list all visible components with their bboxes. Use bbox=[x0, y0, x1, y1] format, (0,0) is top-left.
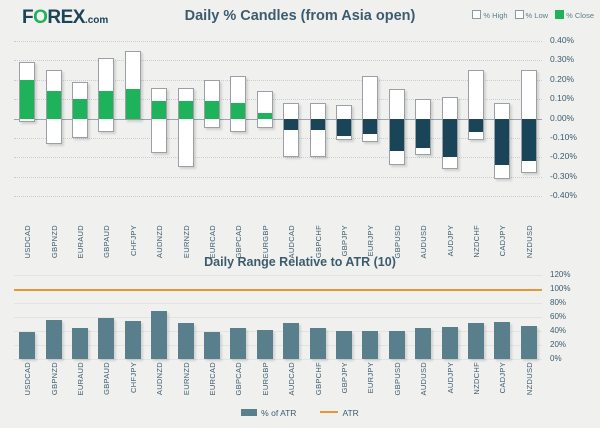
y-axis-tick-label: 0.10% bbox=[550, 93, 574, 103]
legend-swatch-icon bbox=[555, 10, 564, 19]
atr-bar-cadjpy bbox=[494, 322, 510, 359]
candle-gbpaud bbox=[98, 41, 114, 196]
candle-audnzd bbox=[151, 41, 167, 196]
legend-item-low: % Low bbox=[515, 10, 549, 20]
atr-bar-gbpchf bbox=[310, 328, 326, 360]
y-axis-tick-label: -0.20% bbox=[550, 151, 577, 161]
legend-item-close: % Close bbox=[555, 10, 594, 20]
x-axis-label-audusd: AUDUSD bbox=[419, 225, 428, 258]
bottom-plot-area bbox=[14, 275, 542, 359]
candle-eurgbp bbox=[257, 41, 273, 196]
chart-header: FOREX.com Daily % Candles (from Asia ope… bbox=[0, 0, 600, 30]
top-plot-area bbox=[14, 41, 542, 196]
gridline bbox=[14, 41, 542, 42]
candle-close-body bbox=[415, 119, 431, 148]
bottom-chart-title: Daily Range Relative to ATR (10) bbox=[0, 255, 600, 269]
candle-close-body bbox=[442, 119, 458, 158]
x-axis-label-audusd: AUDUSD bbox=[419, 362, 428, 395]
candle-range-box bbox=[178, 88, 194, 167]
candle-chfjpy bbox=[125, 41, 141, 196]
candle-usdcad bbox=[19, 41, 35, 196]
x-axis-label-audcad: AUDCAD bbox=[287, 362, 296, 395]
top-chart-legend: % High% Low% Close bbox=[465, 10, 594, 20]
candle-gbpnzd bbox=[46, 41, 62, 196]
x-axis-label-eurgbp: EURGBP bbox=[261, 362, 270, 395]
atr-bar-audcad bbox=[283, 323, 299, 359]
gridline bbox=[14, 80, 542, 81]
x-axis-label-eurjpy: EURJPY bbox=[366, 362, 375, 393]
candle-range-box bbox=[310, 103, 326, 157]
x-axis-label-gbpnzd: GBPNZD bbox=[50, 362, 59, 395]
atr-bar-gbpcad bbox=[230, 328, 246, 359]
gridline bbox=[14, 60, 542, 61]
legend-label: % High bbox=[483, 11, 507, 20]
candle-audjpy bbox=[442, 41, 458, 196]
zero-line bbox=[14, 119, 542, 120]
y-axis-tick-label: 0.00% bbox=[550, 113, 574, 123]
candle-close-body bbox=[178, 101, 194, 118]
candle-nzdusd bbox=[521, 41, 537, 196]
gridline bbox=[14, 196, 542, 197]
legend-label: % of ATR bbox=[261, 408, 296, 418]
atr-bar-gbpaud bbox=[98, 318, 114, 359]
x-axis-label-gbpusd: GBPUSD bbox=[393, 362, 402, 395]
atr-bar-nzdusd bbox=[521, 326, 537, 359]
legend-item-high: % High bbox=[472, 10, 507, 20]
x-axis-label-nzdusd: NZDUSD bbox=[525, 362, 534, 395]
x-axis-label-cadjpy: CADJPY bbox=[498, 225, 507, 256]
atr-bar-euraud bbox=[72, 328, 88, 360]
x-axis-label-nzdchf: NZDCHF bbox=[472, 225, 481, 258]
candle-eurcad bbox=[204, 41, 220, 196]
y-axis-tick-label: 0.20% bbox=[550, 74, 574, 84]
x-axis-label-eurnzd: EURNZD bbox=[182, 362, 191, 395]
legend-swatch-icon bbox=[241, 409, 257, 416]
atr-bar-eurnzd bbox=[178, 323, 194, 359]
candle-cadjpy bbox=[494, 41, 510, 196]
gridline bbox=[14, 275, 542, 276]
x-axis-label-gbpchf: GBPCHF bbox=[314, 225, 323, 258]
x-axis-label-gbpaud: GBPAUD bbox=[102, 362, 111, 395]
y-axis-tick-label: 0.30% bbox=[550, 54, 574, 64]
gridline bbox=[14, 359, 542, 360]
atr-bar-audjpy bbox=[442, 327, 458, 359]
x-axis-label-nzdchf: NZDCHF bbox=[472, 362, 481, 395]
x-axis-label-gbpjpy: GBPJPY bbox=[340, 362, 349, 393]
gridline bbox=[14, 99, 542, 100]
gridline bbox=[14, 138, 542, 139]
gridline bbox=[14, 317, 542, 318]
x-axis-label-euraud: EURAUD bbox=[76, 225, 85, 258]
y-axis-tick-label: 120% bbox=[550, 270, 570, 279]
x-axis-label-chfjpy: CHFJPY bbox=[129, 362, 138, 393]
candle-close-body bbox=[468, 119, 484, 133]
legend-label: ATR bbox=[342, 408, 358, 418]
y-axis-tick-label: 0.40% bbox=[550, 35, 574, 45]
candle-close-body bbox=[310, 119, 326, 131]
candle-close-body bbox=[521, 119, 537, 162]
x-axis-label-usdcad: USDCAD bbox=[23, 362, 32, 395]
candle-close-body bbox=[72, 99, 88, 118]
candle-close-body bbox=[336, 119, 352, 136]
y-axis-tick-label: 100% bbox=[550, 284, 570, 293]
y-axis-tick-label: -0.30% bbox=[550, 171, 577, 181]
atr-bar-audusd bbox=[415, 328, 431, 360]
y-axis-tick-label: 0% bbox=[550, 354, 562, 363]
gridline bbox=[14, 331, 542, 332]
candle-close-body bbox=[389, 119, 405, 152]
x-axis-label-nzdusd: NZDUSD bbox=[525, 225, 534, 258]
y-axis-tick-label: 20% bbox=[550, 340, 566, 349]
candle-range-box bbox=[257, 91, 273, 128]
x-axis-label-gbpjpy: GBPJPY bbox=[340, 225, 349, 256]
x-axis-label-audjpy: AUDJPY bbox=[446, 225, 455, 256]
candle-gbpchf bbox=[310, 41, 326, 196]
atr-bar-gbpnzd bbox=[46, 320, 62, 359]
x-axis-label-chfjpy: CHFJPY bbox=[129, 225, 138, 256]
x-axis-label-gbpnzd: GBPNZD bbox=[50, 225, 59, 258]
gridline bbox=[14, 303, 542, 304]
y-axis-tick-label: -0.10% bbox=[550, 132, 577, 142]
candle-close-body bbox=[151, 101, 167, 118]
candle-audusd bbox=[415, 41, 431, 196]
x-axis-label-gbpcad: GBPCAD bbox=[234, 225, 243, 258]
x-axis-label-gbpcad: GBPCAD bbox=[234, 362, 243, 395]
atr-reference-line bbox=[14, 289, 542, 291]
x-axis-label-eurgbp: EURGBP bbox=[261, 225, 270, 258]
atr-bar-nzdchf bbox=[468, 323, 484, 359]
gridline bbox=[14, 157, 542, 158]
atr-bar-gbpjpy bbox=[336, 331, 352, 359]
legend-swatch-icon bbox=[515, 10, 524, 19]
candle-eurnzd bbox=[178, 41, 194, 196]
candle-close-body bbox=[98, 91, 114, 118]
y-axis-tick-label: 80% bbox=[550, 298, 566, 307]
candle-gbpjpy bbox=[336, 41, 352, 196]
daily-range-atr-chart bbox=[0, 272, 600, 362]
atr-bar-eurjpy bbox=[362, 331, 378, 359]
x-axis-label-eurnzd: EURNZD bbox=[182, 225, 191, 258]
candle-range-box bbox=[283, 103, 299, 157]
candle-audcad bbox=[283, 41, 299, 196]
x-axis-label-eurcad: EURCAD bbox=[208, 362, 217, 395]
x-axis-label-cadjpy: CADJPY bbox=[498, 362, 507, 393]
candle-range-box bbox=[151, 88, 167, 154]
candle-eurjpy bbox=[362, 41, 378, 196]
atr-bar-chfjpy bbox=[125, 321, 141, 359]
x-axis-label-eurjpy: EURJPY bbox=[366, 225, 375, 256]
candle-close-body bbox=[494, 119, 510, 166]
candle-close-body bbox=[230, 103, 246, 119]
legend-label: % Close bbox=[566, 11, 594, 20]
y-axis-tick-label: 40% bbox=[550, 326, 566, 335]
legend-item-atr: ATR bbox=[320, 408, 358, 418]
x-axis-label-audnzd: AUDNZD bbox=[155, 225, 164, 258]
x-axis-label-gbpchf: GBPCHF bbox=[314, 362, 323, 395]
candle-close-body bbox=[257, 113, 273, 119]
gridline bbox=[14, 345, 542, 346]
bottom-chart-legend: % of ATRATR bbox=[0, 408, 600, 418]
candle-euraud bbox=[72, 41, 88, 196]
atr-bar-eurcad bbox=[204, 332, 220, 359]
x-axis-label-audcad: AUDCAD bbox=[287, 225, 296, 258]
x-axis-label-gbpusd: GBPUSD bbox=[393, 225, 402, 258]
daily-percent-candles-chart bbox=[0, 30, 600, 195]
y-axis-tick-label: -0.40% bbox=[550, 190, 577, 200]
atr-bar-eurgbp bbox=[257, 330, 273, 359]
atr-bar-audnzd bbox=[151, 311, 167, 359]
legend-item-ofatr: % of ATR bbox=[241, 408, 296, 418]
x-axis-label-audnzd: AUDNZD bbox=[155, 362, 164, 395]
x-axis-label-euraud: EURAUD bbox=[76, 362, 85, 395]
legend-swatch-icon bbox=[472, 10, 481, 19]
x-axis-label-gbpaud: GBPAUD bbox=[102, 225, 111, 258]
candle-close-body bbox=[19, 80, 35, 119]
legend-swatch-icon bbox=[320, 411, 338, 413]
x-axis-label-audjpy: AUDJPY bbox=[446, 362, 455, 393]
legend-label: % Low bbox=[526, 11, 549, 20]
candle-close-body bbox=[46, 91, 62, 118]
atr-bar-gbpusd bbox=[389, 331, 405, 359]
candle-close-body bbox=[204, 101, 220, 118]
candle-close-body bbox=[362, 119, 378, 135]
atr-bar-usdcad bbox=[19, 332, 35, 359]
candle-nzdchf bbox=[468, 41, 484, 196]
candle-close-body bbox=[283, 119, 299, 131]
candle-gbpusd bbox=[389, 41, 405, 196]
x-axis-label-usdcad: USDCAD bbox=[23, 225, 32, 258]
y-axis-tick-label: 60% bbox=[550, 312, 566, 321]
gridline bbox=[14, 177, 542, 178]
x-axis-label-eurcad: EURCAD bbox=[208, 225, 217, 258]
candle-gbpcad bbox=[230, 41, 246, 196]
candle-close-body bbox=[125, 89, 141, 118]
